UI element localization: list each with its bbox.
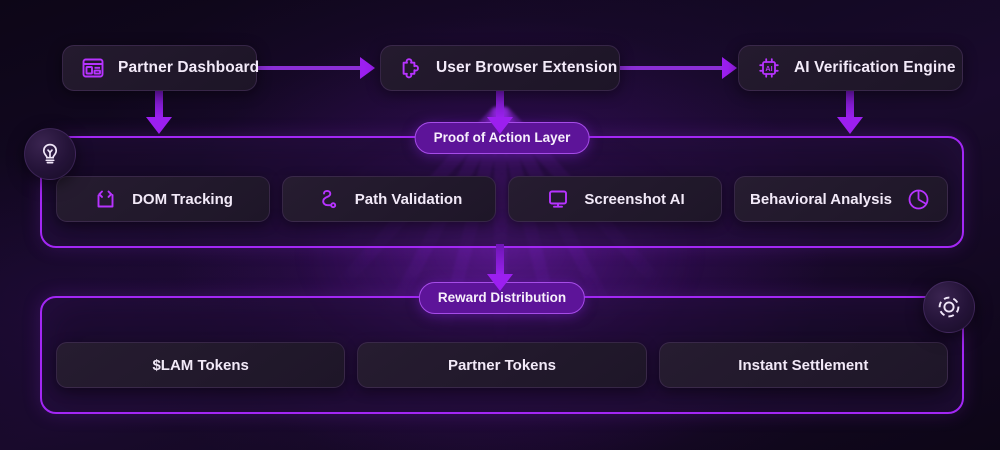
reward-card-row: $LAM Tokens Partner Tokens Instant Settl… <box>56 342 948 388</box>
proof-card-label: Path Validation <box>355 191 463 208</box>
flow-step-label: AI Verification Engine <box>794 59 956 77</box>
connector-down-center-arrow <box>487 117 513 134</box>
flow-step-partner-dashboard[interactable]: Partner Dashboard <box>62 45 257 91</box>
connector-down-center <box>496 91 504 118</box>
proof-card-label: DOM Tracking <box>132 191 233 208</box>
flow-step-ai-verification-engine[interactable]: AI AI Verification Engine <box>738 45 963 91</box>
svg-text:AI: AI <box>765 64 772 73</box>
proof-card-screenshot-ai[interactable]: Screenshot AI <box>508 176 722 222</box>
connector-down-right <box>846 91 854 118</box>
monitor-icon <box>545 186 571 212</box>
ai-chip-icon: AI <box>757 56 781 80</box>
token-chip-icon <box>935 293 963 321</box>
diagram-canvas: Partner Dashboard User Browser Extension <box>0 0 1000 450</box>
reward-card-partner-tokens[interactable]: Partner Tokens <box>357 342 646 388</box>
route-path-icon <box>316 186 342 212</box>
flow-step-label: User Browser Extension <box>436 59 617 77</box>
connector-down-left <box>155 91 163 118</box>
connector-line-1 <box>257 66 362 70</box>
proof-card-path-validation[interactable]: Path Validation <box>282 176 496 222</box>
pie-chart-icon <box>905 186 932 213</box>
flow-step-user-browser-extension[interactable]: User Browser Extension <box>380 45 620 91</box>
proof-card-label: Behavioral Analysis <box>750 191 892 208</box>
connector-arrow-1 <box>360 57 375 79</box>
reward-card-label: Instant Settlement <box>738 357 868 374</box>
proof-card-row: DOM Tracking Path Validation <box>56 176 948 222</box>
lightbulb-icon <box>37 141 63 167</box>
flow-step-label: Partner Dashboard <box>118 59 259 77</box>
connector-down-right-arrow <box>837 117 863 134</box>
puzzle-piece-icon <box>399 56 423 80</box>
proof-of-action-panel: Proof of Action Layer DOM Tracking <box>40 136 964 248</box>
reward-card-label: $LAM Tokens <box>152 357 248 374</box>
connector-down-reward-arrow <box>487 274 513 291</box>
connector-down-reward <box>496 244 504 276</box>
connector-line-2 <box>620 66 725 70</box>
reward-distribution-panel: Reward Distribution $LAM Tokens Partner … <box>40 296 964 414</box>
dashboard-icon <box>81 56 105 80</box>
reward-card-label: Partner Tokens <box>448 357 556 374</box>
proof-card-dom-tracking[interactable]: DOM Tracking <box>56 176 270 222</box>
connector-down-left-arrow <box>146 117 172 134</box>
code-brackets-icon <box>93 186 119 212</box>
reward-layer-side-badge[interactable] <box>923 281 975 333</box>
reward-card-instant-settlement[interactable]: Instant Settlement <box>659 342 948 388</box>
connector-arrow-2 <box>722 57 737 79</box>
proof-card-behavioral-analysis[interactable]: Behavioral Analysis <box>734 176 948 222</box>
reward-card-lam-tokens[interactable]: $LAM Tokens <box>56 342 345 388</box>
proof-card-label: Screenshot AI <box>584 191 684 208</box>
proof-layer-side-badge[interactable] <box>24 128 76 180</box>
